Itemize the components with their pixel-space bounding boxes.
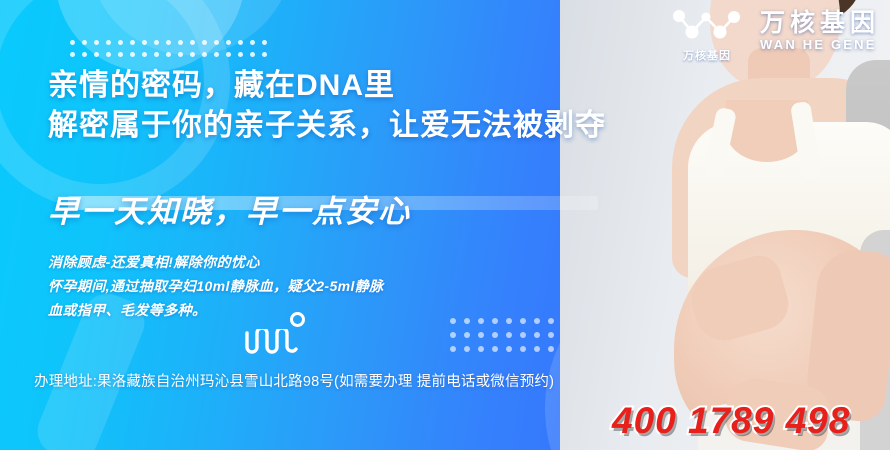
dot bbox=[166, 52, 171, 57]
gene-testing-ad-banner: 万核基因 万核基因 WAN HE GENE 亲情的密码，藏在DNA里 解密属于你… bbox=[0, 0, 890, 450]
dot bbox=[202, 52, 207, 57]
subheadline-text: 早一天知晓，早一点安心 bbox=[48, 186, 411, 231]
dot bbox=[450, 332, 456, 338]
dot bbox=[118, 52, 123, 57]
dot bbox=[154, 52, 159, 57]
headline-line-1: 亲情的密码，藏在DNA里 bbox=[48, 66, 606, 106]
headline-block: 亲情的密码，藏在DNA里 解密属于你的亲子关系，让爱无法被剥夺 bbox=[48, 66, 606, 145]
dot bbox=[214, 52, 219, 57]
dot bbox=[492, 346, 498, 352]
dot bbox=[226, 52, 231, 57]
dot bbox=[492, 318, 498, 324]
dot bbox=[548, 332, 554, 338]
dot bbox=[178, 40, 183, 45]
dot bbox=[202, 40, 207, 45]
dot bbox=[130, 40, 135, 45]
logo-badge-label: 万核基因 bbox=[683, 47, 731, 63]
dot bbox=[238, 40, 243, 45]
dot bbox=[94, 40, 99, 45]
pregnant-woman-photo bbox=[560, 0, 890, 450]
dot bbox=[534, 346, 540, 352]
dot bbox=[520, 346, 526, 352]
dot bbox=[548, 346, 554, 352]
wave-squiggle-icon bbox=[243, 329, 303, 362]
dot-row bbox=[70, 52, 274, 64]
dot bbox=[492, 332, 498, 338]
dot bbox=[130, 52, 135, 57]
dot bbox=[534, 318, 540, 324]
dot bbox=[250, 40, 255, 45]
dot bbox=[506, 318, 512, 324]
body-copy-block: 消除顾虑-还爱真相!解除你的忧心 怀孕期间,通过抽取孕妇10ml静脉血，疑父2-… bbox=[48, 250, 384, 322]
logo-brand-cn: 万核基因 bbox=[760, 10, 880, 36]
dot bbox=[82, 40, 87, 45]
dot bbox=[534, 332, 540, 338]
body-copy-line-2: 怀孕期间,通过抽取孕妇10ml静脉血，疑父2-5ml静脉 bbox=[48, 274, 384, 298]
dot-row bbox=[70, 40, 274, 52]
dot bbox=[166, 40, 171, 45]
dot bbox=[238, 52, 243, 57]
dot bbox=[464, 332, 470, 338]
dot bbox=[464, 318, 470, 324]
dot bbox=[190, 52, 195, 57]
dot bbox=[226, 40, 231, 45]
dot bbox=[214, 40, 219, 45]
dot bbox=[450, 346, 456, 352]
dot bbox=[94, 52, 99, 57]
dot bbox=[118, 40, 123, 45]
dot bbox=[106, 40, 111, 45]
dot bbox=[478, 332, 484, 338]
body-copy-line-1: 消除顾虑-还爱真相!解除你的忧心 bbox=[48, 250, 384, 274]
dot bbox=[262, 52, 267, 57]
office-address: 办理地址:果洛藏族自治州玛沁县雪山北路98号(如需要办理 提前电话或微信预约) bbox=[34, 370, 554, 391]
dot bbox=[520, 332, 526, 338]
dot bbox=[262, 40, 267, 45]
dot bbox=[506, 346, 512, 352]
photo-background bbox=[560, 0, 890, 450]
logo-wordmark: 万核基因 WAN HE GENE bbox=[760, 6, 880, 52]
dot bbox=[478, 346, 484, 352]
dot bbox=[250, 52, 255, 57]
dot bbox=[154, 40, 159, 45]
dot bbox=[142, 40, 147, 45]
dot bbox=[478, 318, 484, 324]
logo-brand-en: WAN HE GENE bbox=[760, 38, 880, 52]
dot bbox=[70, 52, 75, 57]
brand-logo[interactable]: 万核基因 万核基因 WAN HE GENE bbox=[668, 6, 880, 64]
logo-badge: 万核基因 bbox=[668, 6, 746, 64]
dot bbox=[506, 332, 512, 338]
body-copy-line-3: 血或指甲、毛发等多种。 bbox=[48, 298, 384, 322]
hotline-phone-number[interactable]: 400 1789 498 bbox=[612, 400, 850, 442]
dot bbox=[82, 52, 87, 57]
dot bbox=[190, 40, 195, 45]
dot bbox=[178, 52, 183, 57]
dot-grid-top-left bbox=[70, 40, 274, 64]
headline-line-2: 解密属于你的亲子关系，让爱无法被剥夺 bbox=[48, 106, 606, 146]
subheadline-block: 早一天知晓，早一点安心 bbox=[48, 186, 411, 231]
dot bbox=[464, 346, 470, 352]
dot bbox=[106, 52, 111, 57]
dot bbox=[450, 318, 456, 324]
dot bbox=[142, 52, 147, 57]
dot bbox=[548, 318, 554, 324]
dot bbox=[70, 40, 75, 45]
dot bbox=[520, 318, 526, 324]
molecule-network-icon bbox=[670, 6, 744, 46]
